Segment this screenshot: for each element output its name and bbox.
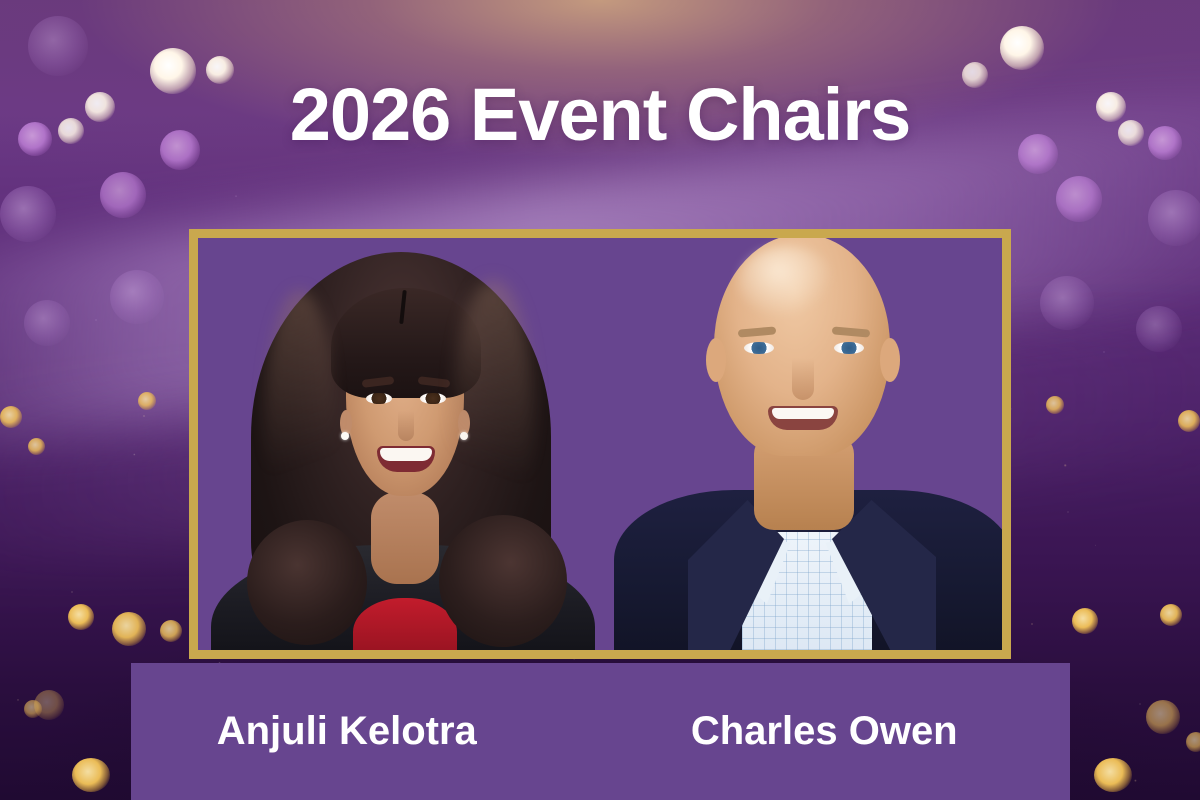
- bokeh-orb: [0, 186, 56, 242]
- bokeh-orb: [110, 270, 164, 324]
- bokeh-orb: [34, 690, 64, 720]
- event-chairs-graphic: 2026 Event Chairs: [0, 0, 1200, 800]
- teeth-shape: [380, 448, 432, 461]
- chairs-photo-frame: [189, 229, 1011, 659]
- head-highlight: [738, 246, 834, 318]
- earring-left: [341, 432, 349, 440]
- neck-shape: [371, 492, 439, 584]
- hair-highlight-left: [265, 290, 335, 550]
- bokeh-orb: [28, 438, 45, 455]
- hair-highlight-right: [453, 280, 533, 550]
- bokeh-orb: [138, 392, 156, 410]
- chair-name-left: Anjuli Kelotra: [131, 709, 609, 754]
- bokeh-orb: [1178, 410, 1200, 432]
- bokeh-orb: [1146, 700, 1180, 734]
- chair-names-bar: Anjuli Kelotra Charles Owen: [131, 663, 1070, 800]
- eye-left: [366, 393, 392, 404]
- ear-left: [706, 338, 726, 382]
- bokeh-orb: [1094, 758, 1132, 792]
- chair-name-right: Charles Owen: [609, 709, 1071, 754]
- bokeh-orb: [100, 172, 146, 218]
- teeth-shape: [772, 408, 834, 419]
- bokeh-orb: [1040, 276, 1094, 330]
- bokeh-orb: [1072, 608, 1098, 634]
- eye-right: [834, 342, 864, 354]
- chair-photo-anjuli-kelotra: [203, 238, 603, 650]
- chairs-photo-panel: [198, 238, 1002, 650]
- eye-left: [744, 342, 774, 354]
- bokeh-orb: [1148, 190, 1200, 246]
- bokeh-orb: [1160, 604, 1182, 626]
- nose-shape: [398, 411, 414, 441]
- eye-right: [420, 393, 446, 404]
- chair-photo-charles-owen: [596, 238, 1002, 650]
- bokeh-orb: [72, 758, 110, 792]
- mouth-shape: [768, 406, 838, 430]
- mouth-shape: [377, 446, 435, 472]
- bokeh-orb: [24, 300, 70, 346]
- bokeh-orb: [1136, 306, 1182, 352]
- bokeh-orb: [160, 620, 182, 642]
- bokeh-orb: [1056, 176, 1102, 222]
- bokeh-orb: [112, 612, 146, 646]
- ear-right: [880, 338, 900, 382]
- bokeh-orb: [68, 604, 94, 630]
- bokeh-orb: [1046, 396, 1064, 414]
- bokeh-orb: [28, 16, 88, 76]
- nose-shape: [792, 358, 814, 400]
- bokeh-orb: [1000, 26, 1044, 70]
- page-title: 2026 Event Chairs: [0, 78, 1200, 152]
- bokeh-orb: [0, 406, 22, 428]
- bokeh-orb: [1186, 732, 1200, 752]
